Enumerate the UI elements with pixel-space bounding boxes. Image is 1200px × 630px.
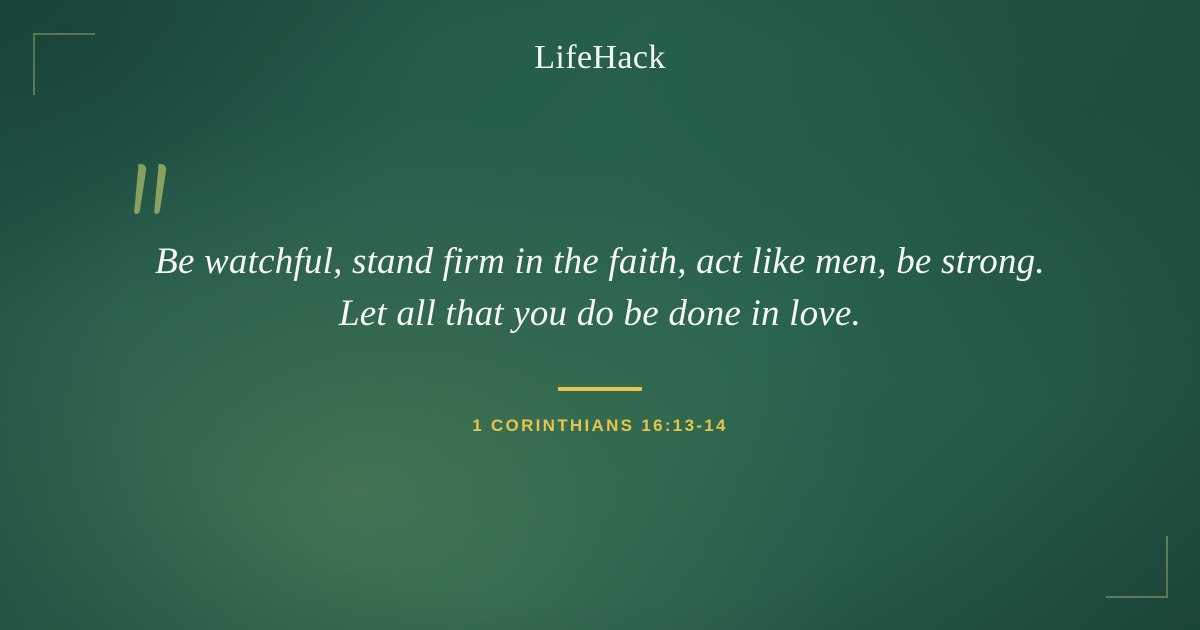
quote-text: Be watchful, stand firm in the faith, ac… <box>80 236 1120 340</box>
double-quote-icon <box>120 152 200 232</box>
quote-card: LifeHack Be watchful, stand firm in the … <box>0 0 1200 630</box>
scripture-citation: 1 CORINTHIANS 16:13-14 <box>0 414 1200 438</box>
quote-line-1: Be watchful, stand firm in the faith, ac… <box>80 236 1120 288</box>
gold-divider-rule <box>558 387 642 391</box>
brand-logo: LifeHack <box>0 36 1200 80</box>
quote-line-2: Let all that you do be done in love. <box>80 288 1120 340</box>
corner-bracket-bottom-right-icon <box>1106 536 1168 598</box>
divider-container <box>0 378 1200 396</box>
